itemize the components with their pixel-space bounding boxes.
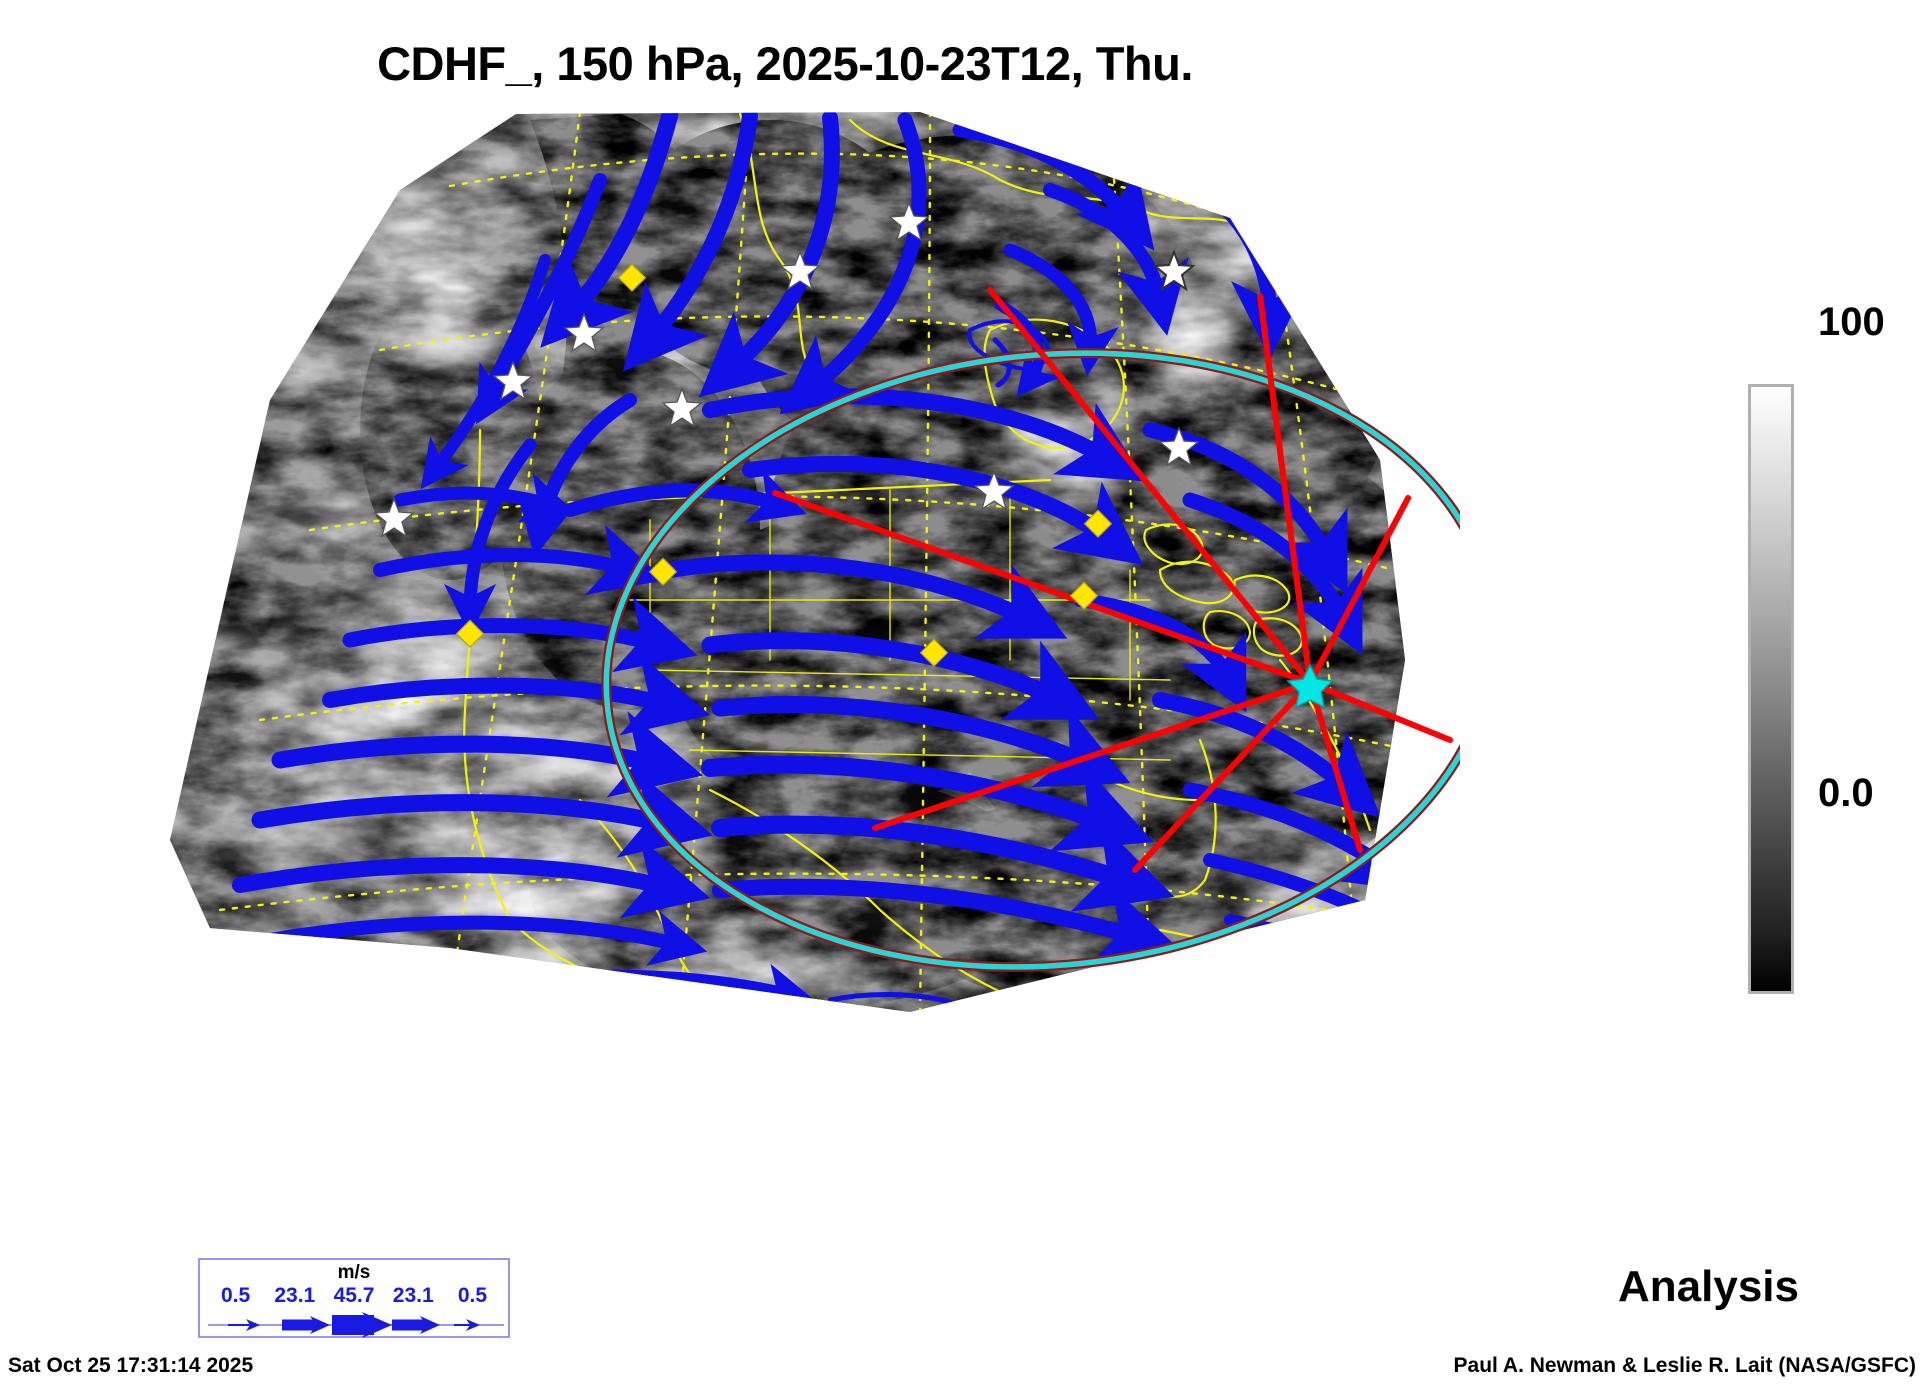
page-title: CDHF_, 150 hPa, 2025-10-23T12, Thu. — [0, 36, 1570, 91]
wind-legend-value-1: 23.1 — [265, 1284, 324, 1308]
wind-legend-unit-label: m/s — [200, 1262, 508, 1284]
analysis-label: Analysis — [1618, 1262, 1799, 1312]
colorbar — [1748, 384, 1794, 994]
generation-timestamp: Sat Oct 25 17:31:14 2025 — [8, 1354, 253, 1378]
wind-legend-values: 0.5 23.1 45.7 23.1 0.5 — [206, 1284, 502, 1308]
colorbar-min-label: 0.0 — [1818, 771, 1874, 816]
map-svg — [150, 100, 1460, 1030]
author-credit: Paul A. Newman & Leslie R. Lait (NASA/GS… — [1454, 1354, 1916, 1378]
weather-analysis-figure: CDHF_, 150 hPa, 2025-10-23T12, Thu. — [0, 0, 1926, 1394]
wind-legend-value-2: 45.7 — [324, 1284, 383, 1308]
wind-legend-value-3: 23.1 — [384, 1284, 443, 1308]
map-plot-area — [150, 100, 1460, 1030]
wind-legend-arrow-scale — [206, 1312, 506, 1338]
wind-legend-value-4: 0.5 — [443, 1284, 502, 1308]
wind-speed-legend: m/s 0.5 23.1 45.7 23.1 0.5 — [198, 1258, 510, 1338]
wind-legend-value-0: 0.5 — [206, 1284, 265, 1308]
colorbar-max-label: 100 — [1818, 300, 1885, 345]
colorbar-gradient — [1748, 384, 1794, 994]
